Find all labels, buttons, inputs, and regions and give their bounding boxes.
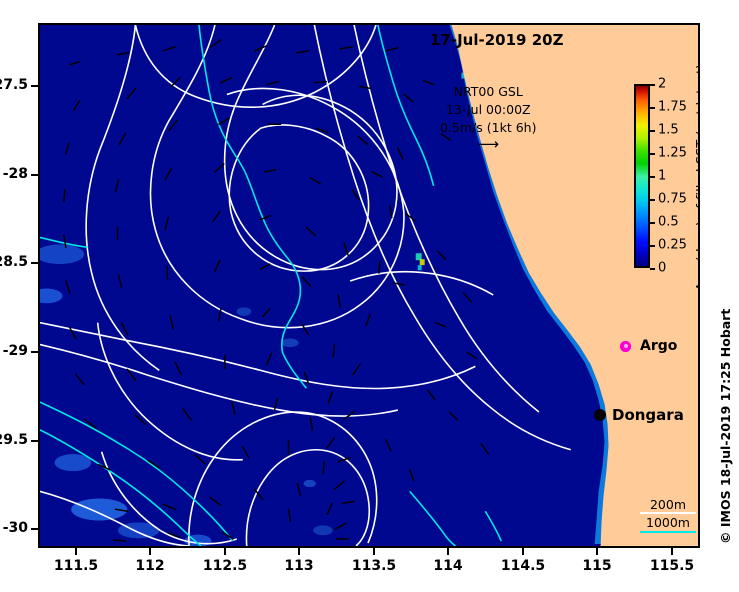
argo-float-marker-icon xyxy=(620,341,631,352)
imos-credit: © IMOS 18-Jul-2019 17:25 Hobart xyxy=(718,309,733,544)
page-title: 17-Jul-2019 20Z xyxy=(430,31,563,49)
argo-legend-label: Argo xyxy=(640,338,677,354)
figure-canvas: 17-Jul-2019 20Z NRT00 GSL 13-Jul 00:00Z … xyxy=(0,0,739,592)
colorbar-label-075: 0.75 xyxy=(658,192,687,207)
y-axis-label-28: -28 xyxy=(3,166,28,182)
y-axis-label-275: -27.5 xyxy=(0,77,28,93)
x-axis-tick xyxy=(298,548,300,555)
depth-contour-legend: 200m 1000m xyxy=(640,498,696,535)
colorbar-label-1: 1 xyxy=(658,169,666,184)
colorbar-label-05: 0.5 xyxy=(658,215,679,230)
colorbar-tick xyxy=(650,245,655,247)
y-axis-tick xyxy=(31,262,38,264)
colorbar-tick xyxy=(650,153,655,155)
surface-current-vectors xyxy=(40,25,698,546)
x-axis-label-1155: 115.5 xyxy=(650,558,694,574)
x-axis-tick xyxy=(373,548,375,555)
x-axis-tick xyxy=(224,548,226,555)
annotation-line-source: NRT00 GSL xyxy=(440,83,536,101)
depth-legend-row-200m: 200m xyxy=(640,498,696,514)
x-axis-label-113: 113 xyxy=(284,558,313,574)
depth-legend-line-200m xyxy=(640,512,696,514)
colorbar-tick xyxy=(650,107,655,109)
dongara-label: Dongara xyxy=(612,406,684,424)
x-axis-label-1125: 112.5 xyxy=(203,558,247,574)
colorbar-tick xyxy=(650,199,655,201)
y-axis-label-30: -30 xyxy=(3,520,28,536)
colorbar-label-025: 0.25 xyxy=(658,238,687,253)
y-axis-label-285: -28.5 xyxy=(0,254,28,270)
x-axis-tick xyxy=(149,548,151,555)
y-axis-label-29: -29 xyxy=(3,343,28,359)
depth-legend-label-1000m: 1000m xyxy=(640,516,696,530)
y-axis-tick xyxy=(31,440,38,442)
y-axis-tick xyxy=(31,528,38,530)
y-axis-tick xyxy=(31,351,38,353)
colorbar-label-2: 2 xyxy=(658,77,666,92)
colorbar-label-15: 1.5 xyxy=(658,123,679,138)
colorbar-label-125: 1.25 xyxy=(658,146,687,161)
colorbar-gradient xyxy=(634,84,650,268)
vector-scale-arrow-icon: ⟶ xyxy=(440,134,536,156)
colorbar-tick xyxy=(650,84,655,86)
depth-legend-line-1000m xyxy=(640,531,696,533)
x-axis-label-1145: 114.5 xyxy=(501,558,545,574)
colorbar-tick xyxy=(650,268,655,270)
colorbar-label-175: 1.75 xyxy=(658,100,687,115)
x-axis-label-1135: 113.5 xyxy=(352,558,396,574)
depth-legend-row-1000m: 1000m xyxy=(640,516,696,532)
x-axis-label-112: 112 xyxy=(135,558,164,574)
y-axis-tick xyxy=(31,174,38,176)
x-axis-tick xyxy=(671,548,673,555)
depth-legend-label-200m: 200m xyxy=(640,498,696,512)
town-marker-icon xyxy=(594,409,606,421)
x-axis-label-114: 114 xyxy=(433,558,462,574)
x-axis-label-115: 115 xyxy=(582,558,611,574)
colorbar-label-0: 0 xyxy=(658,261,666,276)
colorbar-axis-title: Age (days) of filled SST (wrt latest) xyxy=(695,85,700,269)
map-plot-area[interactable]: 17-Jul-2019 20Z NRT00 GSL 13-Jul 00:00Z … xyxy=(38,23,700,548)
x-axis-tick xyxy=(447,548,449,555)
colorbar-tick xyxy=(650,222,655,224)
annotation-line-datetime: 13-Jul 00:00Z xyxy=(440,101,536,119)
x-axis-label-1115: 111.5 xyxy=(54,558,98,574)
y-axis-tick xyxy=(31,85,38,87)
x-axis-tick xyxy=(75,548,77,555)
colorbar-tick xyxy=(650,176,655,178)
current-source-annotation: NRT00 GSL 13-Jul 00:00Z 0.5m/s (1kt 6h) … xyxy=(440,83,536,156)
x-axis-tick xyxy=(522,548,524,555)
x-axis-tick xyxy=(596,548,598,555)
colorbar-tick xyxy=(650,130,655,132)
argo-legend-entry: Argo xyxy=(620,338,677,354)
dongara-town-entry: Dongara xyxy=(594,406,684,424)
y-axis-label-295: -29.5 xyxy=(0,432,28,448)
